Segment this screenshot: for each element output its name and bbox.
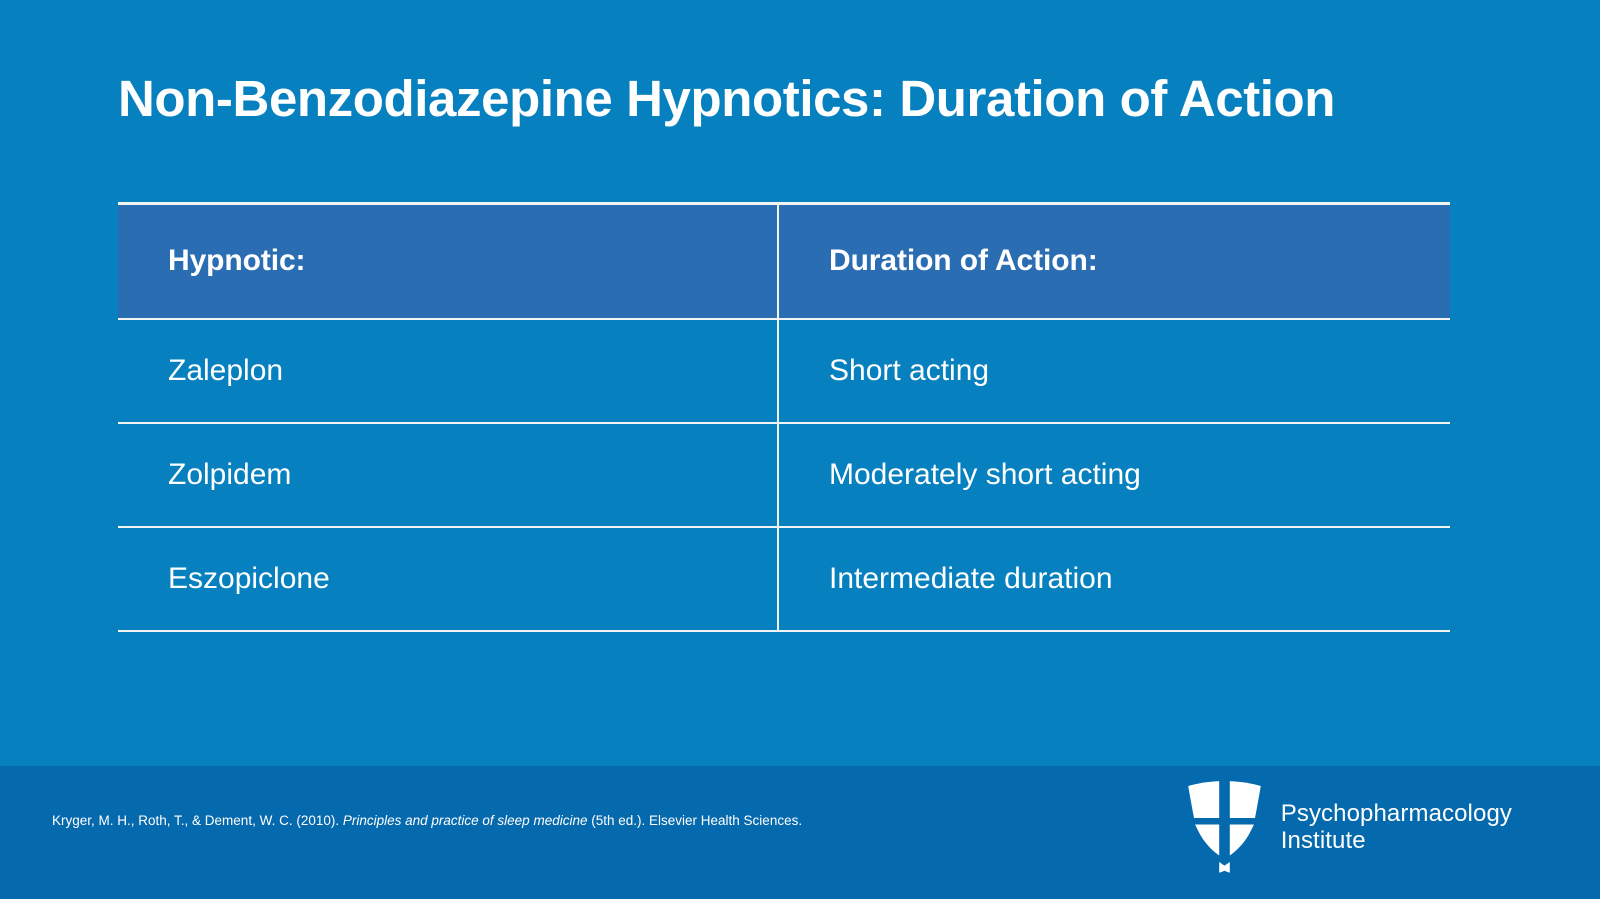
brand-logo: Psychopharmacology Institute: [1185, 780, 1512, 874]
cell-hypnotic: Zaleplon: [118, 319, 777, 423]
footer-band: Kryger, M. H., Roth, T., & Dement, W. C.…: [0, 766, 1600, 899]
brand-name-line2: Institute: [1281, 827, 1512, 854]
table-body: Zaleplon Short acting Zolpidem Moderatel…: [118, 319, 1450, 631]
citation-book-title: Principles and practice of sleep medicin…: [343, 813, 588, 828]
brand-name-line1: Psychopharmacology: [1281, 800, 1512, 827]
cell-duration: Intermediate duration: [777, 527, 1450, 631]
shield-quadrant-icon: [1185, 780, 1264, 874]
cell-hypnotic: Eszopiclone: [118, 527, 777, 631]
table-header-row: Hypnotic: Duration of Action:: [118, 204, 1450, 319]
table-row: Zaleplon Short acting: [118, 319, 1450, 423]
cell-duration: Short acting: [777, 319, 1450, 423]
citation-reference: Kryger, M. H., Roth, T., & Dement, W. C.…: [52, 811, 832, 831]
table-row: Eszopiclone Intermediate duration: [118, 527, 1450, 631]
table-header: Hypnotic: Duration of Action:: [118, 204, 1450, 319]
citation-authors-year: Kryger, M. H., Roth, T., & Dement, W. C.…: [52, 813, 343, 828]
duration-of-action-table: Hypnotic: Duration of Action: Zaleplon S…: [118, 202, 1450, 632]
column-header-hypnotic: Hypnotic:: [118, 204, 777, 319]
cell-hypnotic: Zolpidem: [118, 423, 777, 527]
brand-logo-text: Psychopharmacology Institute: [1281, 800, 1512, 854]
slide-canvas: Non-Benzodiazepine Hypnotics: Duration o…: [0, 0, 1600, 899]
cell-duration: Moderately short acting: [777, 423, 1450, 527]
table-row: Zolpidem Moderately short acting: [118, 423, 1450, 527]
duration-of-action-table-wrapper: Hypnotic: Duration of Action: Zaleplon S…: [118, 202, 1450, 632]
column-header-duration: Duration of Action:: [777, 204, 1450, 319]
citation-edition-publisher: (5th ed.). Elsevier Health Sciences.: [587, 813, 802, 828]
page-title: Non-Benzodiazepine Hypnotics: Duration o…: [118, 70, 1518, 129]
